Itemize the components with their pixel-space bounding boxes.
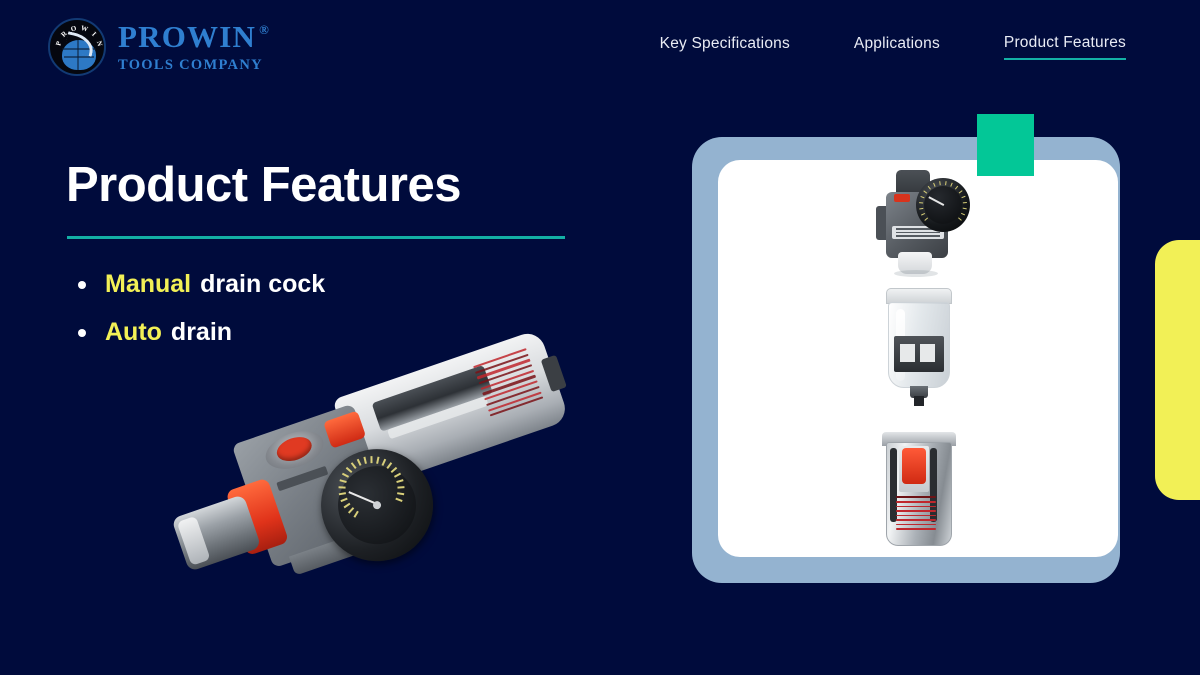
feature-highlight: Auto [105, 318, 162, 347]
brand-name-row: PROWIN ® [118, 21, 270, 52]
gauge-tick [376, 457, 379, 464]
gauge-tick [961, 196, 965, 199]
regulator-gauge-icon [916, 178, 970, 232]
gauge-tick [933, 183, 936, 187]
feature-text: drain cock [200, 270, 325, 299]
product-shadow [894, 270, 938, 277]
brand-tagline: TOOLS COMPANY [118, 58, 270, 73]
list-item: Auto drain [78, 318, 325, 347]
frl-slot [276, 466, 328, 491]
brand-wordmark: PROWIN ® TOOLS COMPANY [118, 21, 270, 73]
gauge-tick [919, 202, 923, 204]
feature-text: drain [171, 318, 232, 347]
frl-warning-label [473, 348, 545, 421]
brand-logo[interactable]: PROWIN PROWIN ® TOOLS COMPANY [48, 18, 270, 76]
gauge-tick [919, 208, 923, 210]
feature-highlight: Manual [105, 270, 191, 299]
prowin-emblem-icon: PROWIN [48, 18, 106, 76]
nav-item-key-specifications[interactable]: Key Specifications [660, 35, 790, 59]
emblem-arc-text: PROWIN [50, 20, 106, 76]
gauge-tick [928, 186, 931, 190]
gauge-tick [939, 181, 941, 185]
bowl-float-mechanism [894, 336, 944, 372]
yellow-accent-shape [1155, 240, 1200, 500]
frl-end-cap [541, 355, 567, 392]
registered-mark: ® [259, 23, 270, 36]
guard-red-float [902, 448, 926, 484]
gauge-tick [924, 217, 928, 220]
bowl-drain-tip [914, 396, 924, 406]
gauge-tick [961, 213, 965, 216]
gauge-tick [923, 190, 927, 193]
gauge-tick [363, 457, 366, 464]
gallery-item-metal-bowl-guard [880, 432, 960, 552]
gauge-tick [339, 487, 346, 489]
page-title: Product Features [66, 157, 461, 213]
gauge-tick [920, 196, 924, 199]
green-accent-square [977, 114, 1034, 176]
list-item: Manual drain cock [78, 270, 325, 299]
main-navigation: Key Specifications Applications Product … [660, 34, 1126, 60]
gauge-tick [921, 213, 925, 216]
nav-item-applications[interactable]: Applications [854, 35, 940, 59]
gallery-item-regulator [876, 170, 972, 278]
gauge-tick [945, 181, 947, 185]
gauge-tick [351, 462, 357, 469]
bullet-dot-icon [78, 281, 86, 289]
gauge-tick [959, 190, 963, 193]
feature-list: Manual drain cock Auto drain [78, 270, 325, 366]
gauge-tick [963, 208, 967, 210]
gallery-item-clear-bowl [880, 288, 960, 414]
nav-item-product-features[interactable]: Product Features [1004, 34, 1126, 60]
gauge-tick [342, 473, 349, 478]
gauge-tick [963, 202, 967, 204]
guard-warning-label [896, 496, 936, 532]
page-header: PROWIN PROWIN ® TOOLS COMPANY Key Specif… [0, 0, 1200, 95]
gauge-tick [958, 217, 962, 220]
gauge-tick [346, 467, 352, 473]
gauge-tick [382, 459, 386, 466]
bullet-dot-icon [78, 329, 86, 337]
gauge-tick [370, 456, 372, 463]
gauge-tick [950, 183, 953, 187]
title-divider [67, 236, 565, 239]
brand-name: PROWIN [118, 21, 256, 52]
regulator-red-clip [894, 194, 910, 202]
gauge-tick [357, 459, 361, 466]
gauge-tick [955, 186, 958, 190]
slide: PROWIN PROWIN ® TOOLS COMPANY Key Specif… [0, 0, 1200, 675]
